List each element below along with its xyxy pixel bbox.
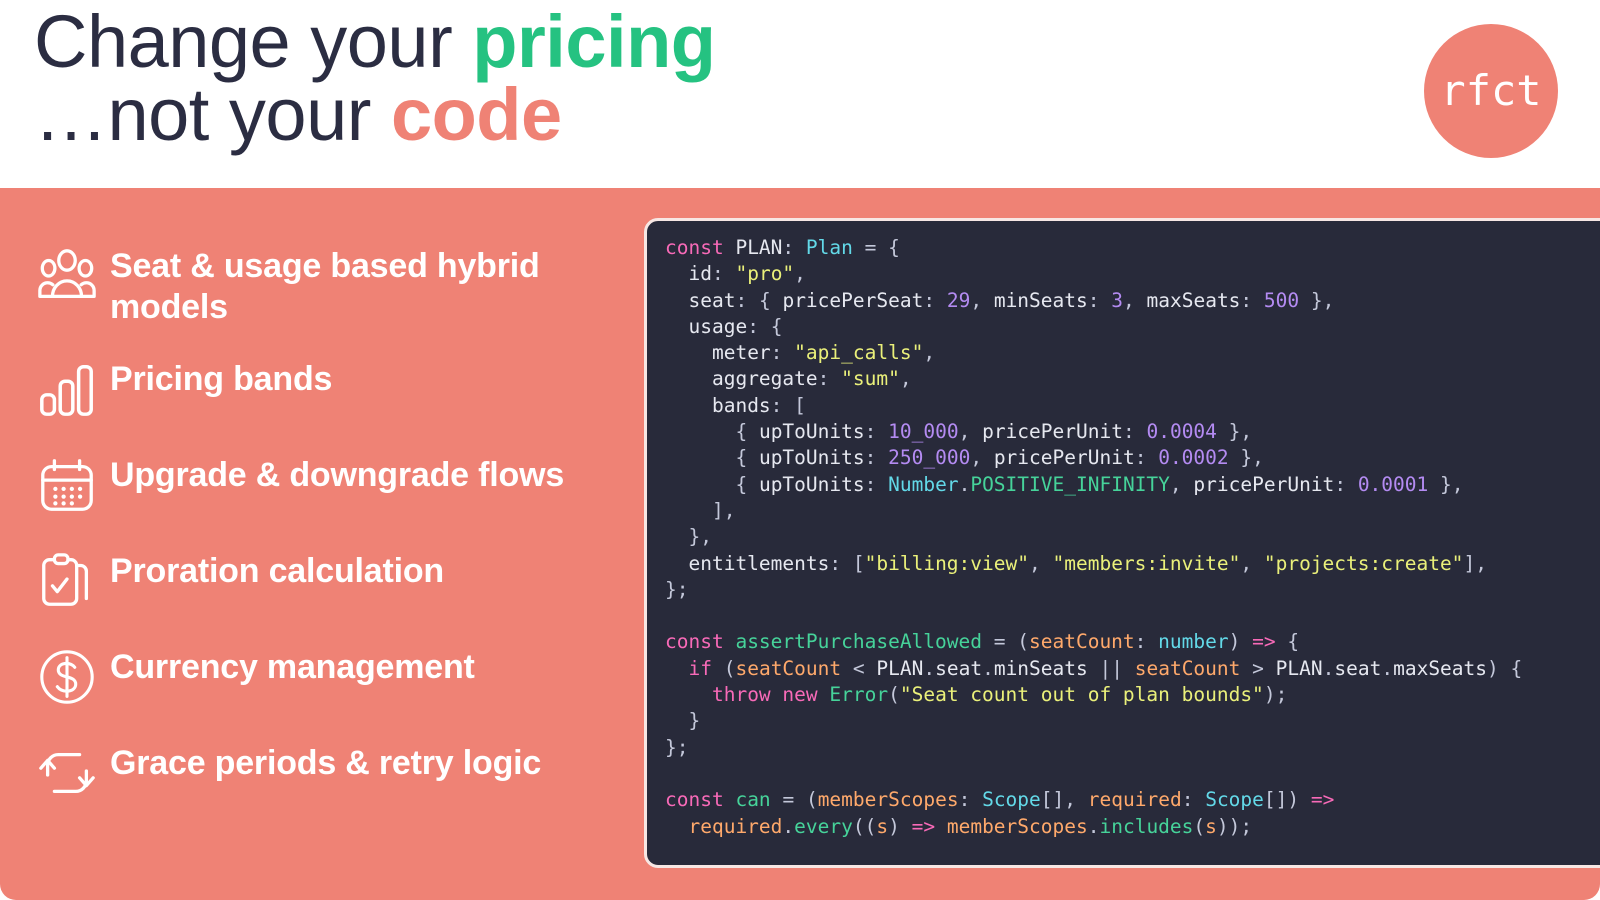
- dollar-circle-icon: [24, 641, 110, 713]
- logo-text: rfct: [1440, 70, 1541, 112]
- code-scroll-area[interactable]: const PLAN: Plan = { id: "pro", seat: { …: [665, 235, 1600, 865]
- feature-label: Seat & usage based hybrid models: [110, 240, 624, 329]
- headline-line-2-accent: code: [391, 73, 562, 156]
- calendar-icon: [24, 449, 110, 521]
- body-area: Seat & usage based hybrid models Pricing…: [0, 188, 1600, 900]
- headline-line-2-plain: …not your: [34, 73, 391, 156]
- users-group-icon: [24, 240, 110, 312]
- clipboard-check-icon: [24, 545, 110, 617]
- feature-item-proration: Proration calculation: [24, 545, 624, 617]
- headline-line-1-plain: Change your: [34, 0, 472, 83]
- headline-line-1-accent: pricing: [472, 0, 715, 83]
- feature-label: Pricing bands: [110, 353, 624, 400]
- feature-item-currency: Currency management: [24, 641, 624, 713]
- slide-root: Change your pricing …not your code rfct: [0, 0, 1600, 900]
- feature-item-seat-usage: Seat & usage based hybrid models: [24, 240, 624, 329]
- feature-label: Grace periods & retry logic: [110, 737, 624, 784]
- refresh-retry-icon: [24, 737, 110, 809]
- headline-line-2: …not your code: [34, 79, 715, 152]
- code-block: const PLAN: Plan = { id: "pro", seat: { …: [665, 235, 1600, 840]
- feature-label: Proration calculation: [110, 545, 624, 592]
- feature-item-grace-retry: Grace periods & retry logic: [24, 737, 624, 809]
- feature-item-upgrade-downgrade: Upgrade & downgrade flows: [24, 449, 624, 521]
- feature-list: Seat & usage based hybrid models Pricing…: [24, 240, 624, 833]
- logo-badge: rfct: [1424, 24, 1558, 158]
- feature-label: Currency management: [110, 641, 624, 688]
- code-panel[interactable]: const PLAN: Plan = { id: "pro", seat: { …: [644, 218, 1600, 868]
- feature-item-pricing-bands: Pricing bands: [24, 353, 624, 425]
- header: Change your pricing …not your code rfct: [0, 0, 1600, 188]
- page-title: Change your pricing …not your code: [34, 6, 715, 151]
- feature-label: Upgrade & downgrade flows: [110, 449, 624, 496]
- bar-chart-icon: [24, 353, 110, 425]
- headline-line-1: Change your pricing: [34, 6, 715, 79]
